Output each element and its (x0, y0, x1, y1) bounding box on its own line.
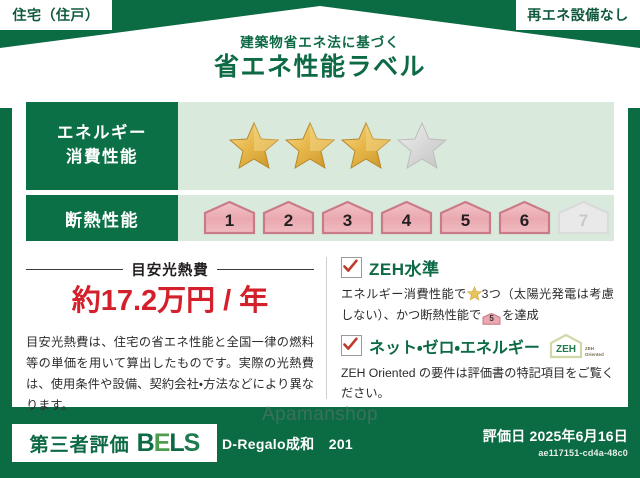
building-type-tag: 住宅（住戸） (0, 0, 112, 30)
star-icon (467, 286, 482, 301)
energy-performance-label-cell: エネルギー 消費性能 (26, 102, 178, 190)
zeh-logo: ZEH ZEH Oriented (549, 333, 604, 359)
net-zero-energy-title: ネット・ゼロ・エネルギー (369, 334, 540, 358)
house-icon-grade-1: 1 (202, 201, 257, 235)
renewable-equipment-tag: 再エネ設備なし (516, 0, 640, 30)
star-icon (284, 121, 336, 171)
zeh-desc-part1: エネルギー消費性能で (341, 287, 467, 301)
zeh-logo-sub-line1: ZEH (585, 346, 594, 351)
star-icon (340, 121, 392, 171)
check-icon (341, 257, 362, 278)
net-zero-energy-description: ZEH Oriented の要件は評価書の特記項目をご覧ください。 (341, 363, 614, 404)
main-content-card: エネルギー 消費性能 (12, 92, 628, 407)
house-icon-grade-4: 4 (379, 201, 434, 235)
energy-stars-container (178, 102, 614, 190)
energy-performance-label: 住宅（住戸） 再エネ設備なし 建築物省エネ法に基づく 省エネ性能ラベル エネルギ… (0, 0, 640, 478)
zeh-standard-block: ZEH水準 エネルギー消費性能で3つ（太陽光発電は考慮しない）、かつ断熱性能で5… (341, 255, 614, 326)
house-icon-grade-2: 2 (261, 201, 316, 235)
grade-number: 6 (520, 211, 529, 235)
zeh-standard-heading: ZEH水準 (341, 255, 614, 280)
check-icon (341, 335, 362, 356)
bels-badge: 第三者評価 BELS (12, 424, 217, 462)
inline-grade-number: 5 (489, 312, 493, 326)
evaluation-id: ae117151-cd4a-48c0 (483, 448, 628, 458)
zeh-logo-sublabel: ZEH Oriented (585, 346, 604, 359)
house-icon-grade-3: 3 (320, 201, 375, 235)
page-title: 省エネ性能ラベル (0, 54, 640, 82)
grade-number: 4 (402, 211, 411, 235)
grade-number: 7 (579, 211, 588, 235)
insulation-performance-row: 断熱性能 1 2 (26, 190, 614, 241)
evaluation-info: 評価日 2025年6月16日 ae117151-cd4a-48c0 (483, 426, 628, 458)
grade-number: 2 (284, 211, 293, 235)
utility-cost-note: 目安光熱費は、住宅の省エネ性能と全国一律の燃料等の単価を用いて算出したものです。… (26, 332, 314, 416)
zeh-logo-sub-line2: Oriented (585, 352, 604, 357)
house-icon-grade-5: 5 (438, 201, 493, 235)
insulation-performance-label-cell: 断熱性能 (26, 195, 178, 241)
bels-logo: BELS (137, 431, 200, 456)
zeh-standard-description: エネルギー消費性能で3つ（太陽光発電は考慮しない）、かつ断熱性能で5を達成 (341, 284, 614, 326)
utility-cost-value: 約17.2万円 / 年 (26, 286, 314, 318)
footer: 第三者評価 BELS D-Regalo成和 201 評価日 2025年6月16日… (0, 416, 640, 478)
bels-badge-jp-label: 第三者評価 (30, 430, 130, 457)
house-icon-inline-grade: 5 (482, 312, 501, 326)
insulation-grades-container: 1 2 3 4 (178, 195, 614, 241)
zeh-desc-part3: を達成 (502, 308, 539, 322)
divider-line-left (26, 269, 123, 270)
details-area: 目安光熱費 約17.2万円 / 年 目安光熱費は、住宅の省エネ性能と全国一律の燃… (26, 255, 614, 405)
grade-number: 1 (225, 211, 234, 235)
net-zero-energy-block: ネット・ゼロ・エネルギー ZEH ZEH Oriented (341, 333, 614, 404)
svg-text:ZEH: ZEH (556, 344, 576, 355)
grade-number: 5 (461, 211, 470, 235)
star-icon (228, 121, 280, 171)
house-icon-grade-6: 6 (497, 201, 552, 235)
energy-performance-row: エネルギー 消費性能 (26, 92, 614, 190)
divider-line-right (217, 269, 314, 270)
property-name: D-Regalo成和 201 (222, 434, 353, 454)
star-icon-empty (396, 121, 448, 171)
label-subtitle: 建築物省エネ法に基づく (0, 36, 640, 51)
energy-label-line2: 消費性能 (57, 146, 147, 170)
zeh-panel: ZEH水準 エネルギー消費性能で3つ（太陽光発電は考慮しない）、かつ断熱性能で5… (327, 255, 614, 405)
zeh-standard-title: ZEH水準 (369, 255, 440, 280)
grade-number: 3 (343, 211, 352, 235)
house-icon-grade-7-empty: 7 (556, 201, 611, 235)
utility-cost-title: 目安光熱費 (131, 259, 209, 280)
energy-label-line1: エネルギー (57, 122, 147, 146)
utility-cost-heading: 目安光熱費 (26, 259, 314, 280)
net-zero-energy-heading: ネット・ゼロ・エネルギー ZEH ZEH Oriented (341, 333, 614, 359)
evaluation-date: 評価日 2025年6月16日 (483, 426, 628, 446)
utility-cost-panel: 目安光熱費 約17.2万円 / 年 目安光熱費は、住宅の省エネ性能と全国一律の燃… (26, 255, 326, 405)
